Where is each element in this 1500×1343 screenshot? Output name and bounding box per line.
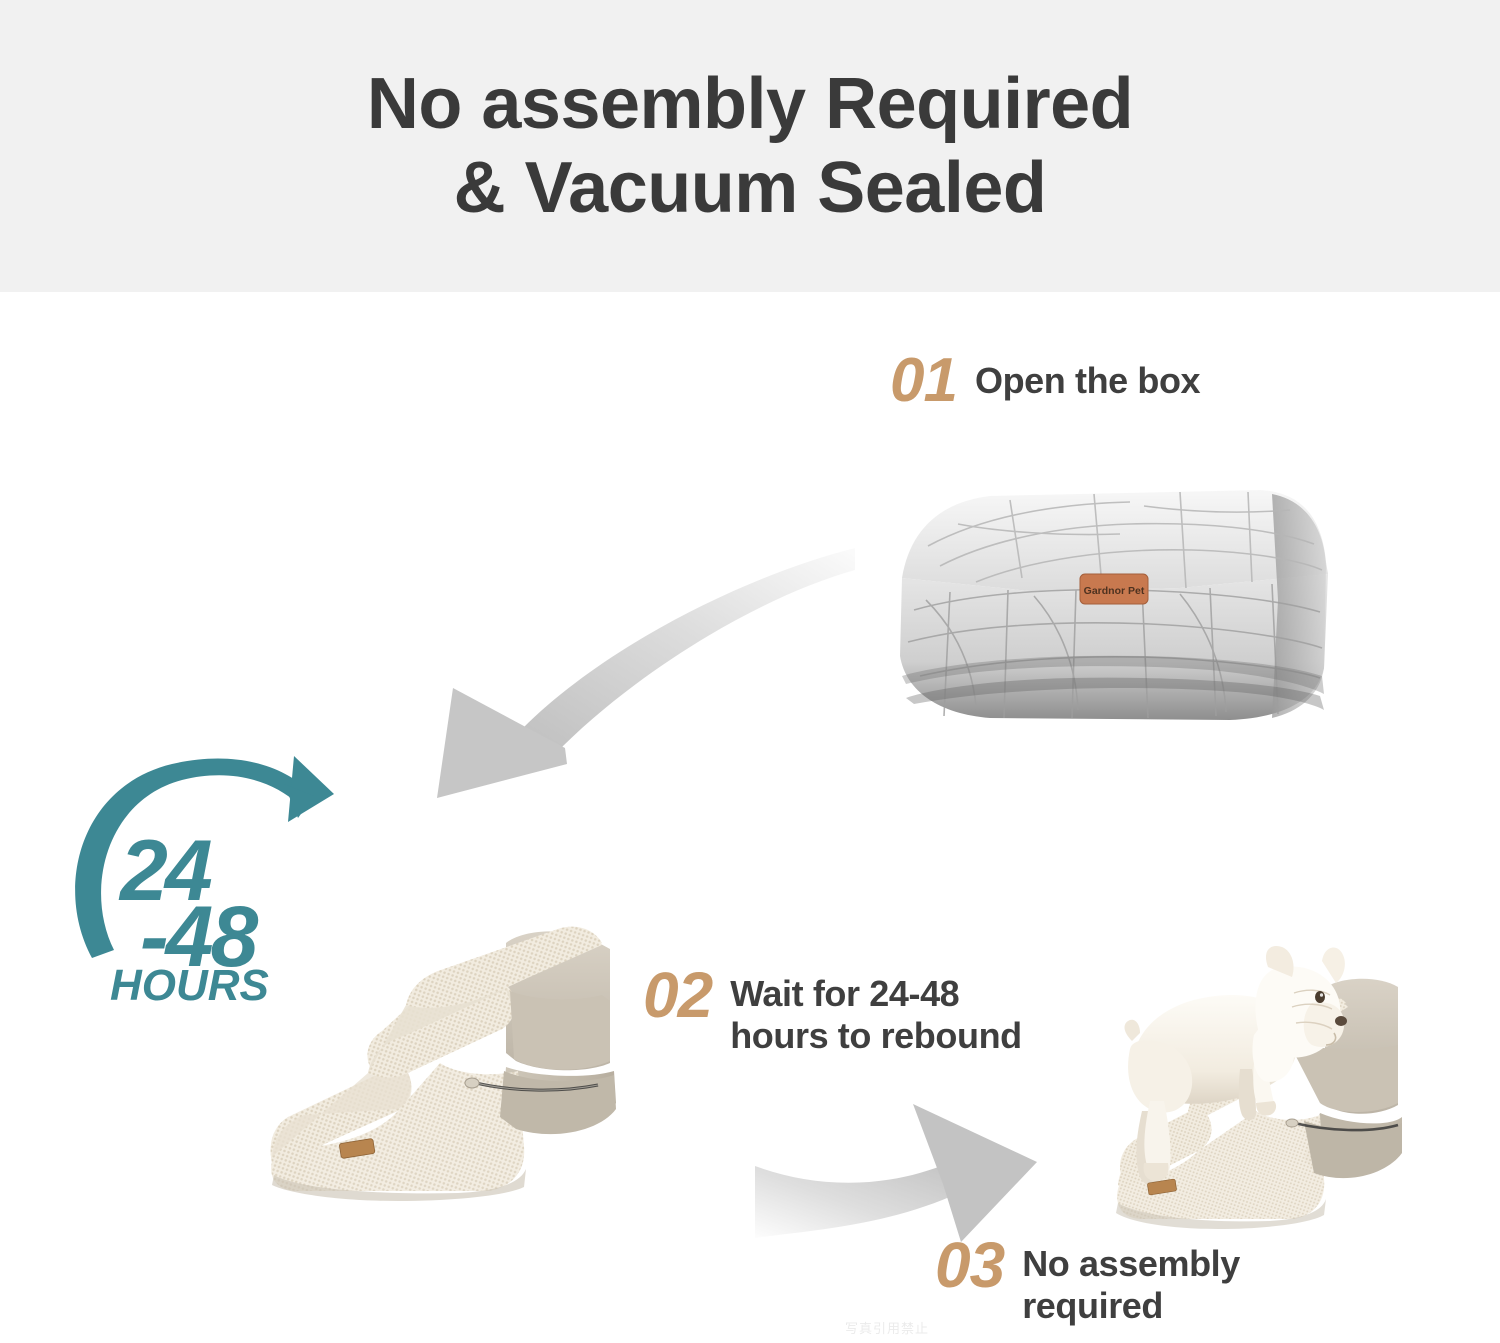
arrow-step2-to-step3: [755, 1080, 1055, 1260]
vacuum-sealed-package: Gardnor Pet: [880, 470, 1350, 732]
watermark: 写真引用禁止: [845, 1318, 929, 1337]
header-band: No assembly Required & Vacuum Sealed: [0, 0, 1500, 292]
step-02-line-2: hours to rebound: [730, 1015, 1022, 1057]
headline-line-1: No assembly Required: [367, 62, 1133, 146]
step-01-text: Open the box: [975, 352, 1200, 402]
arrow-step1-to-step2: [415, 548, 855, 818]
step-02-text: Wait for 24-48 hours to rebound: [730, 965, 1022, 1058]
package-brand-label-text: Gardnor Pet: [1084, 585, 1145, 597]
badge-unit: HOURS: [110, 961, 269, 1010]
foam-pet-stairs: [258, 895, 658, 1205]
package-brand-label: Gardnor Pet: [1080, 574, 1148, 604]
step-01: 01 Open the box: [890, 352, 1200, 411]
step-01-number: 01: [890, 352, 957, 411]
headline-line-2: & Vacuum Sealed: [454, 146, 1047, 230]
foam-pet-stairs-with-dog: [1098, 945, 1443, 1235]
step-02: 02 Wait for 24-48 hours to rebound: [643, 965, 1022, 1058]
step-02-line-1: Wait for 24-48: [730, 973, 1022, 1015]
step-03-line-2: required: [1022, 1285, 1240, 1327]
step-01-line-1: Open the box: [975, 360, 1200, 402]
